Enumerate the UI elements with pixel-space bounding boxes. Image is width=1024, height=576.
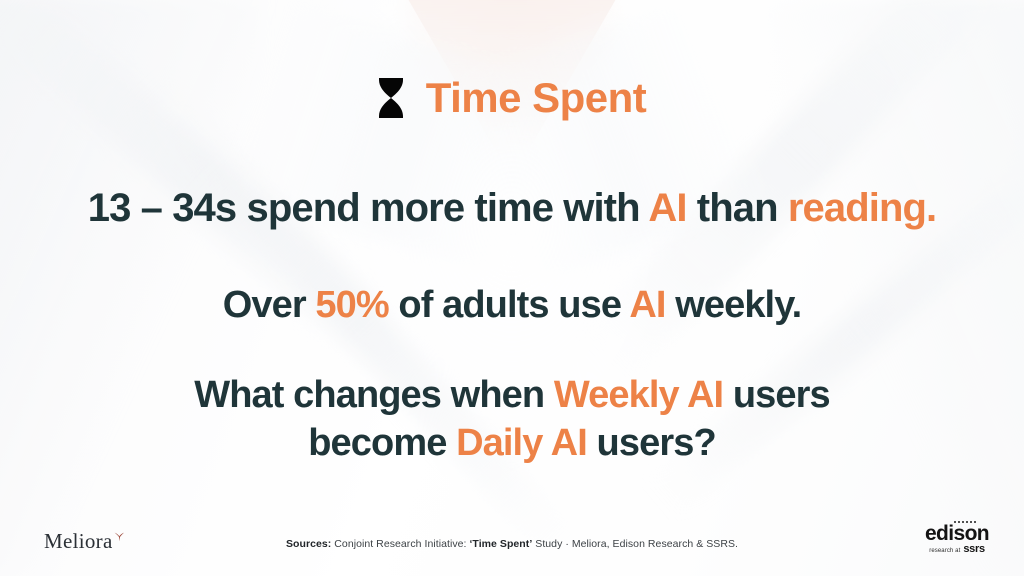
statement-segment-accent: reading. <box>788 186 936 230</box>
edison-tagline: research at ssrs <box>914 543 1000 555</box>
statement-segment-accent: AI <box>648 186 686 230</box>
statement-segment-accent: Weekly AI <box>554 374 723 416</box>
edison-ssrs-wordmark: ssrs <box>963 543 984 555</box>
statement-segment: users? <box>587 422 716 464</box>
hourglass-icon <box>378 77 404 119</box>
slide-canvas: Time Spent 13 – 34s spend more time with… <box>0 0 1024 576</box>
statement-line-3-row-1: What changes when Weekly AI users <box>0 372 1024 420</box>
meliora-logo: Meliora <box>44 531 125 552</box>
footer-sources: Sources: Conjoint Research Initiative: ‘… <box>0 538 1024 550</box>
footer-sources-text-after: Study · Meliora, Edison Research & SSRS. <box>532 538 738 550</box>
edison-wordmark: edison <box>914 524 1000 543</box>
statement-line-2: Over 50% of adults use AI weekly. <box>0 284 1024 327</box>
statement-segment: users <box>723 374 830 416</box>
footer-sources-label: Sources: <box>286 538 331 550</box>
statement-segment: 13 – 34s spend more time with <box>88 186 649 230</box>
meliora-bird-chevron-icon <box>114 529 125 547</box>
statement-line-3-row-2: become Daily AI users? <box>0 420 1024 468</box>
edison-tagline-small: research at <box>929 548 960 554</box>
footer-sources-text-before: Conjoint Research Initiative: <box>331 538 469 550</box>
meliora-wordmark: Meliora <box>44 531 113 552</box>
statement-line-1: 13 – 34s spend more time with AI than re… <box>0 186 1024 231</box>
edison-logo: edison research at ssrs <box>914 521 1000 555</box>
statement-segment-accent: 50% <box>315 284 388 326</box>
slide-content: Time Spent 13 – 34s spend more time with… <box>0 0 1024 576</box>
statement-line-3: What changes when Weekly AI users become… <box>0 372 1024 467</box>
statement-segment: What changes when <box>194 374 554 416</box>
statement-segment: than <box>687 186 788 230</box>
statement-segment-accent: AI <box>629 284 665 326</box>
statement-segment: of adults use <box>389 284 630 326</box>
statement-segment: weekly. <box>666 284 802 326</box>
slide-title-row: Time Spent <box>0 77 1024 119</box>
page-title: Time Spent <box>426 77 647 119</box>
statement-segment: become <box>308 422 456 464</box>
footer-study-name: ‘Time Spent’ <box>469 538 532 550</box>
statement-segment-accent: Daily AI <box>456 422 587 464</box>
statement-segment: Over <box>223 284 316 326</box>
